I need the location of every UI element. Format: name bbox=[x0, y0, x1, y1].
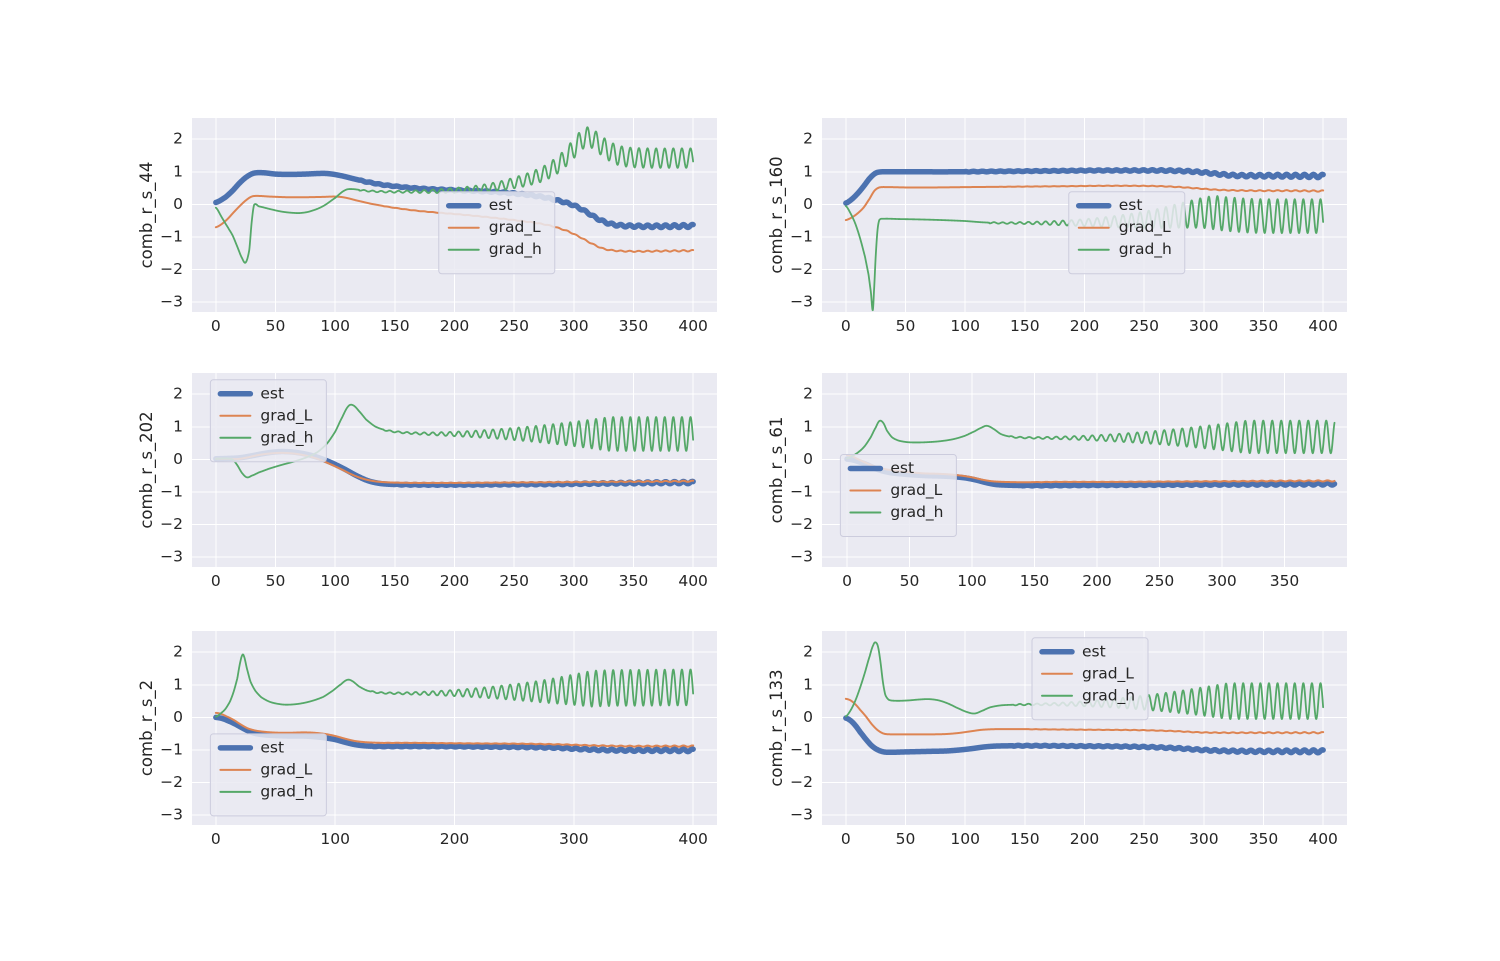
y-tick-label: −2 bbox=[790, 773, 813, 791]
y-tick-label: 0 bbox=[803, 450, 813, 468]
y-tick-label: −1 bbox=[160, 228, 183, 246]
x-tick-label: 150 bbox=[380, 572, 410, 590]
legend-label-est: est bbox=[489, 196, 513, 214]
x-tick-label: 50 bbox=[266, 317, 286, 335]
legend-label-grad_h: grad_h bbox=[890, 503, 943, 522]
y-tick-label: −1 bbox=[790, 483, 813, 501]
x-tick-label: 200 bbox=[1070, 317, 1100, 335]
x-axis-ticks: 050100150200250300350400 bbox=[211, 317, 708, 335]
y-tick-label: −3 bbox=[160, 293, 183, 311]
x-tick-label: 250 bbox=[499, 317, 529, 335]
y-tick-label: 0 bbox=[803, 195, 813, 213]
legend-label-est: est bbox=[890, 459, 914, 477]
x-tick-label: 50 bbox=[900, 572, 920, 590]
legend-label-grad_L: grad_L bbox=[260, 406, 312, 425]
x-tick-label: 300 bbox=[559, 572, 589, 590]
y-axis-ticks: 210−1−2−3 bbox=[790, 130, 813, 311]
x-tick-label: 100 bbox=[950, 830, 980, 848]
x-tick-label: 400 bbox=[1308, 317, 1338, 335]
y-tick-label: 0 bbox=[173, 708, 183, 726]
y-tick-label: 1 bbox=[803, 417, 813, 435]
figure-canvas: 050100150200250300350400210−1−2−3comb_r_… bbox=[0, 0, 1500, 961]
legend-label-grad_L: grad_L bbox=[890, 481, 942, 500]
x-tick-label: 0 bbox=[841, 830, 851, 848]
y-axis-title: comb_r_s_2 bbox=[137, 680, 157, 776]
x-tick-label: 250 bbox=[499, 572, 529, 590]
y-axis-title: comb_r_s_160 bbox=[767, 156, 787, 273]
y-tick-label: −3 bbox=[790, 548, 813, 566]
y-tick-label: 1 bbox=[173, 417, 183, 435]
x-tick-label: 50 bbox=[266, 572, 286, 590]
y-axis-ticks: 210−1−2−3 bbox=[160, 643, 183, 824]
y-tick-label: −2 bbox=[160, 773, 183, 791]
x-tick-label: 150 bbox=[1010, 830, 1040, 848]
x-tick-label: 150 bbox=[1020, 572, 1050, 590]
x-tick-label: 250 bbox=[1129, 830, 1159, 848]
y-tick-label: 0 bbox=[803, 708, 813, 726]
x-tick-label: 150 bbox=[1010, 317, 1040, 335]
x-tick-label: 100 bbox=[950, 317, 980, 335]
y-tick-label: 1 bbox=[173, 162, 183, 180]
chart-comb_r_s_2: 0100200300400210−1−2−3comb_r_s_2estgrad_… bbox=[135, 613, 735, 863]
x-axis-ticks: 0100200300400 bbox=[211, 830, 708, 848]
x-tick-label: 350 bbox=[1249, 317, 1279, 335]
y-tick-label: 2 bbox=[173, 385, 183, 403]
x-tick-label: 250 bbox=[1145, 572, 1175, 590]
x-tick-label: 350 bbox=[1270, 572, 1300, 590]
y-tick-label: −3 bbox=[160, 806, 183, 824]
x-axis-ticks: 050100150200250300350 bbox=[842, 572, 1299, 590]
x-tick-label: 50 bbox=[896, 317, 916, 335]
y-tick-label: −2 bbox=[790, 260, 813, 278]
y-tick-label: −2 bbox=[160, 515, 183, 533]
chart-comb_r_s_202: 050100150200250300350400210−1−2−3comb_r_… bbox=[135, 355, 735, 605]
x-tick-label: 400 bbox=[678, 572, 708, 590]
x-axis-ticks: 050100150200250300350400 bbox=[841, 830, 1338, 848]
chart-comb_r_s_61: 050100150200250300350210−1−2−3comb_r_s_6… bbox=[765, 355, 1365, 605]
x-axis-ticks: 050100150200250300350400 bbox=[841, 317, 1338, 335]
y-tick-label: −2 bbox=[790, 515, 813, 533]
subplot-5: 050100150200250300350400210−1−2−3comb_r_… bbox=[765, 613, 1365, 863]
y-axis-ticks: 210−1−2−3 bbox=[790, 385, 813, 566]
y-tick-label: −3 bbox=[790, 806, 813, 824]
y-axis-ticks: 210−1−2−3 bbox=[790, 643, 813, 824]
x-tick-label: 200 bbox=[440, 572, 470, 590]
legend-label-grad_h: grad_h bbox=[260, 782, 313, 801]
x-tick-label: 0 bbox=[211, 572, 221, 590]
x-tick-label: 250 bbox=[1129, 317, 1159, 335]
y-axis-ticks: 210−1−2−3 bbox=[160, 385, 183, 566]
x-tick-label: 100 bbox=[320, 572, 350, 590]
subplot-2: 050100150200250300350400210−1−2−3comb_r_… bbox=[135, 355, 735, 605]
x-tick-label: 350 bbox=[1249, 830, 1279, 848]
x-tick-label: 400 bbox=[678, 830, 708, 848]
legend-label-est: est bbox=[1082, 642, 1106, 660]
legend-label-est: est bbox=[1119, 196, 1143, 214]
y-tick-label: 2 bbox=[803, 385, 813, 403]
x-tick-label: 350 bbox=[619, 317, 649, 335]
x-tick-label: 50 bbox=[896, 830, 916, 848]
x-tick-label: 400 bbox=[678, 317, 708, 335]
x-tick-label: 350 bbox=[619, 572, 649, 590]
y-tick-label: 1 bbox=[803, 675, 813, 693]
x-tick-label: 300 bbox=[1189, 317, 1219, 335]
subplot-4: 0100200300400210−1−2−3comb_r_s_2estgrad_… bbox=[135, 613, 735, 863]
x-tick-label: 0 bbox=[842, 572, 852, 590]
legend-label-grad_L: grad_L bbox=[489, 218, 541, 237]
legend-label-grad_h: grad_h bbox=[1119, 240, 1172, 259]
legend-label-est: est bbox=[260, 384, 284, 402]
legend-label-grad_L: grad_L bbox=[1119, 218, 1171, 237]
legend-label-grad_h: grad_h bbox=[260, 428, 313, 447]
y-tick-label: 2 bbox=[803, 130, 813, 148]
chart-comb_r_s_160: 050100150200250300350400210−1−2−3comb_r_… bbox=[765, 100, 1365, 350]
legend[interactable]: estgrad_Lgrad_h bbox=[840, 454, 956, 536]
y-tick-label: −1 bbox=[790, 228, 813, 246]
x-tick-label: 300 bbox=[559, 317, 589, 335]
x-tick-label: 200 bbox=[1082, 572, 1112, 590]
legend[interactable]: estgrad_Lgrad_h bbox=[210, 734, 326, 816]
y-tick-label: −3 bbox=[790, 293, 813, 311]
legend[interactable]: estgrad_Lgrad_h bbox=[1069, 192, 1185, 274]
subplot-0: 050100150200250300350400210−1−2−3comb_r_… bbox=[135, 100, 735, 350]
legend[interactable]: estgrad_Lgrad_h bbox=[439, 192, 555, 274]
y-tick-label: −1 bbox=[790, 741, 813, 759]
chart-comb_r_s_133: 050100150200250300350400210−1−2−3comb_r_… bbox=[765, 613, 1365, 863]
y-tick-label: 0 bbox=[173, 195, 183, 213]
x-tick-label: 0 bbox=[841, 317, 851, 335]
legend-label-grad_L: grad_L bbox=[1082, 664, 1134, 683]
y-axis-title: comb_r_s_202 bbox=[137, 411, 157, 528]
y-tick-label: 1 bbox=[173, 675, 183, 693]
legend[interactable]: estgrad_Lgrad_h bbox=[210, 380, 326, 462]
x-tick-label: 200 bbox=[440, 830, 470, 848]
x-tick-label: 100 bbox=[320, 317, 350, 335]
y-tick-label: −2 bbox=[160, 260, 183, 278]
y-tick-label: 1 bbox=[803, 162, 813, 180]
y-tick-label: 2 bbox=[173, 643, 183, 661]
subplot-1: 050100150200250300350400210−1−2−3comb_r_… bbox=[765, 100, 1365, 350]
x-axis-ticks: 050100150200250300350400 bbox=[211, 572, 708, 590]
y-axis-ticks: 210−1−2−3 bbox=[160, 130, 183, 311]
legend[interactable]: estgrad_Lgrad_h bbox=[1032, 638, 1148, 720]
chart-comb_r_s_44: 050100150200250300350400210−1−2−3comb_r_… bbox=[135, 100, 735, 350]
x-tick-label: 300 bbox=[559, 830, 589, 848]
x-tick-label: 200 bbox=[440, 317, 470, 335]
x-tick-label: 0 bbox=[211, 830, 221, 848]
y-tick-label: 2 bbox=[173, 130, 183, 148]
y-axis-title: comb_r_s_133 bbox=[767, 669, 787, 786]
legend-label-grad_L: grad_L bbox=[260, 760, 312, 779]
y-tick-label: 2 bbox=[803, 643, 813, 661]
y-axis-title: comb_r_s_61 bbox=[767, 417, 787, 524]
y-axis-title: comb_r_s_44 bbox=[137, 162, 157, 269]
legend-label-grad_h: grad_h bbox=[1082, 686, 1135, 705]
x-tick-label: 300 bbox=[1189, 830, 1219, 848]
x-tick-label: 150 bbox=[380, 317, 410, 335]
y-tick-label: −3 bbox=[160, 548, 183, 566]
subplot-3: 050100150200250300350210−1−2−3comb_r_s_6… bbox=[765, 355, 1365, 605]
x-tick-label: 400 bbox=[1308, 830, 1338, 848]
x-tick-label: 100 bbox=[957, 572, 987, 590]
x-tick-label: 100 bbox=[320, 830, 350, 848]
legend-label-est: est bbox=[260, 738, 284, 756]
y-tick-label: −1 bbox=[160, 483, 183, 501]
y-tick-label: −1 bbox=[160, 741, 183, 759]
legend-label-grad_h: grad_h bbox=[489, 240, 542, 259]
x-tick-label: 0 bbox=[211, 317, 221, 335]
x-tick-label: 300 bbox=[1207, 572, 1237, 590]
x-tick-label: 200 bbox=[1070, 830, 1100, 848]
y-tick-label: 0 bbox=[173, 450, 183, 468]
